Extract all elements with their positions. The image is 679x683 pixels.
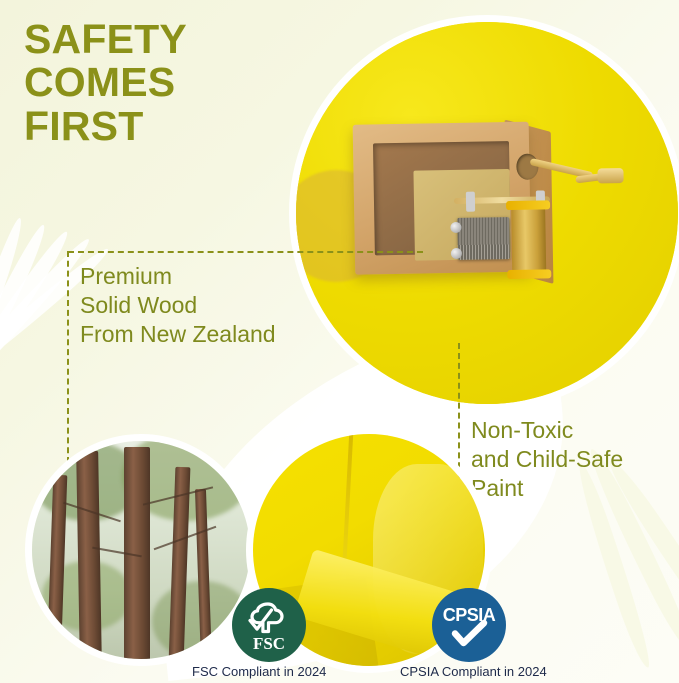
badge-fsc: FSC (232, 588, 306, 662)
page-title: SAFETY COMES FIRST (24, 18, 187, 148)
connector-line-horizontal (68, 251, 423, 253)
caption-cpsia: CPSIA Compliant in 2024 (400, 664, 547, 679)
photo-music-box (296, 22, 678, 404)
music-box-illustration (353, 121, 556, 282)
infographic-canvas: SAFETY COMES FIRST (0, 0, 679, 683)
crank-handle-icon (529, 156, 622, 204)
caption-fsc: FSC Compliant in 2024 (192, 664, 326, 679)
connector-line-left-vertical (67, 251, 69, 463)
check-icon: CPSIA (436, 592, 502, 658)
badge-cpsia-label: CPSIA (443, 605, 496, 625)
badge-cpsia: CPSIA (432, 588, 506, 662)
callout-premium-solid-wood: Premium Solid Wood From New Zealand (80, 262, 276, 350)
photo-forest-trees (32, 441, 250, 659)
tree-check-icon: FSC (238, 594, 300, 656)
callout-non-toxic-paint: Non-Toxic and Child-Safe Paint (471, 416, 623, 504)
badge-fsc-label: FSC (253, 634, 285, 653)
